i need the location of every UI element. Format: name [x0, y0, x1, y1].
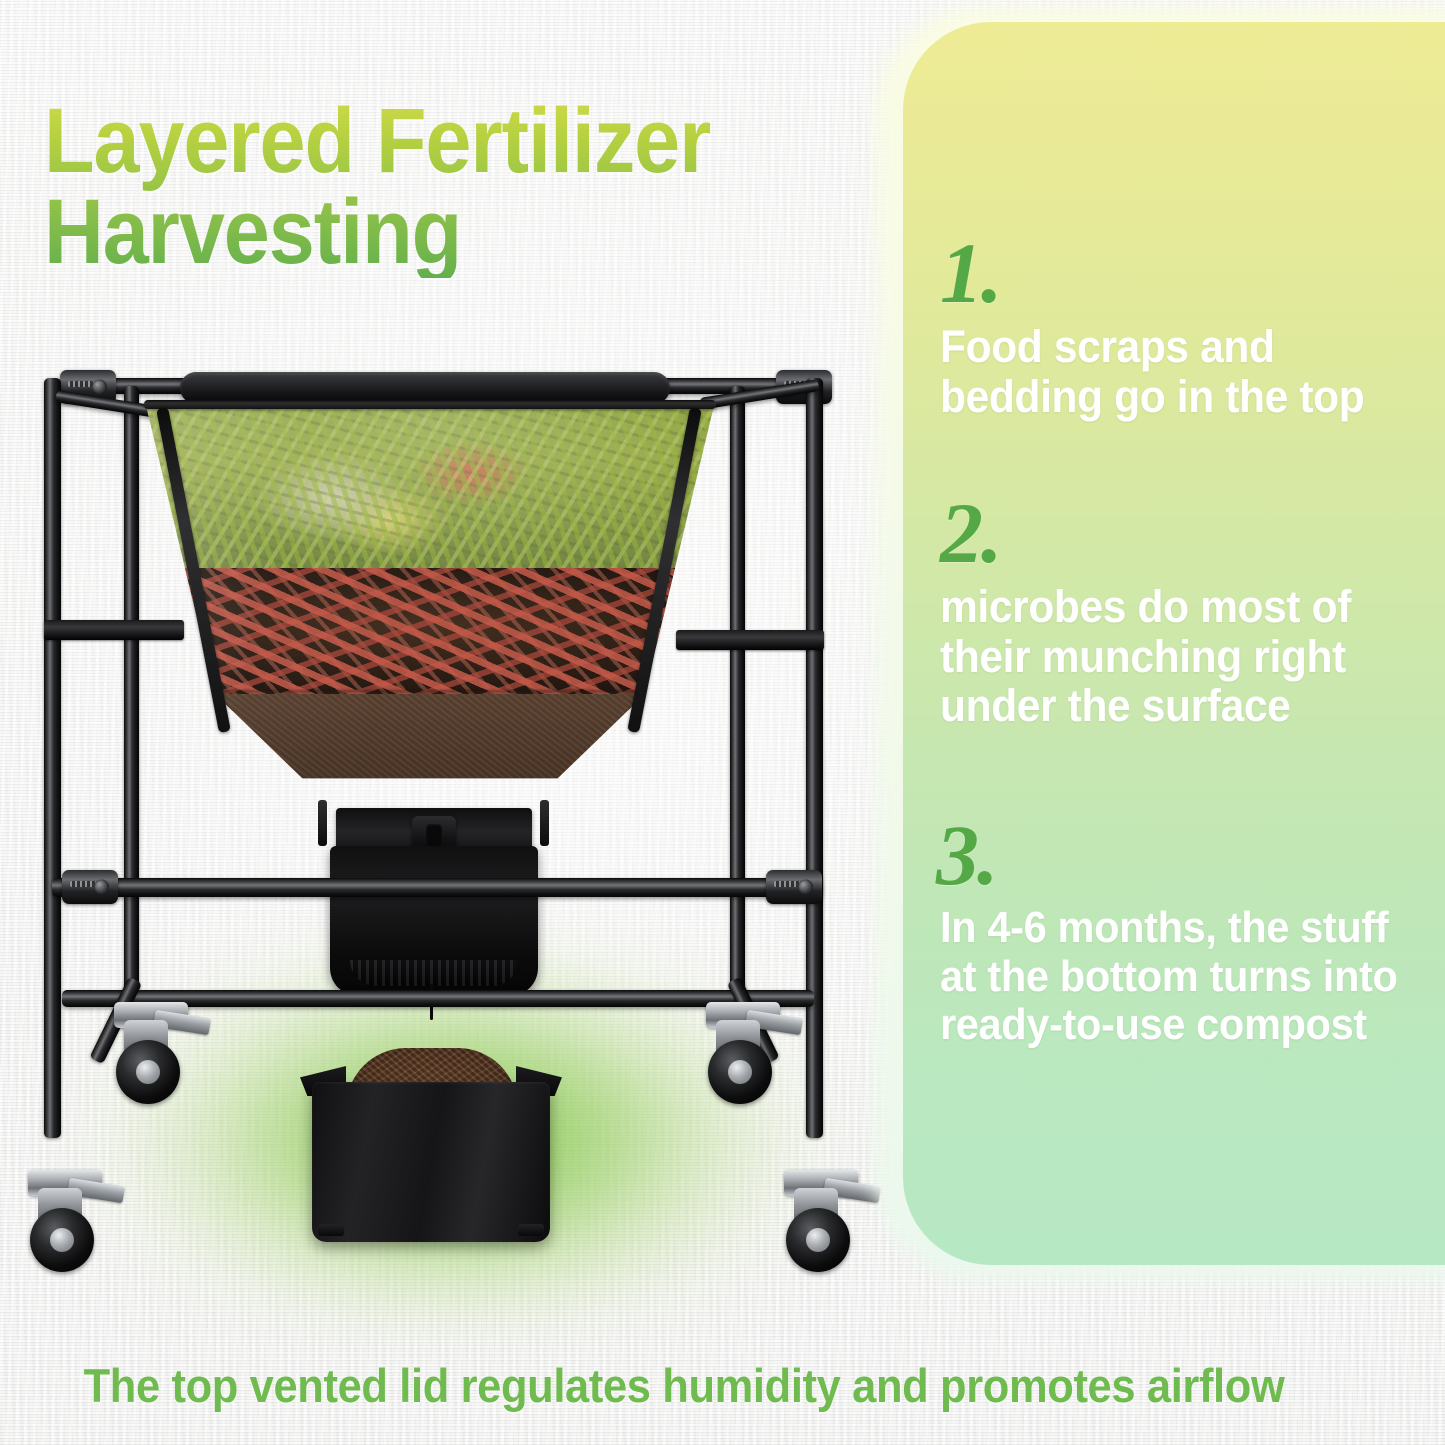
frame-connector-mid-left: [62, 870, 118, 904]
caster-front-right: [778, 1170, 882, 1274]
step-number-2: 2.: [940, 490, 1440, 576]
step-item-2: 2. microbes do most of their munching ri…: [940, 490, 1440, 731]
bin-rim-top: [144, 400, 716, 409]
bin-zipper-right[interactable]: [540, 800, 549, 846]
compost-collection-bag: [300, 1048, 562, 1244]
step-text-1: Food scraps and bedding go in the top: [940, 322, 1413, 421]
step-text-2: microbes do most of their munching right…: [940, 582, 1413, 731]
frame-connector-mid-right: [766, 870, 822, 904]
bin-zipper-left[interactable]: [318, 800, 327, 846]
caster-back-right: [700, 1002, 804, 1106]
funnel-compost-bin: [140, 392, 720, 812]
product-photo: [0, 330, 900, 1340]
bin-interior: [140, 392, 720, 812]
info-panel: 1. Food scraps and bedding go in the top…: [903, 22, 1445, 1265]
frame-post-front-right: [806, 378, 823, 1138]
frame-post-front-left: [44, 378, 61, 1138]
frame-mid-rail: [52, 878, 822, 897]
footer-caption: The top vented lid regulates humidity an…: [51, 1358, 1316, 1413]
caster-wheel: [708, 1040, 772, 1104]
bag-tab-left[interactable]: [318, 1224, 344, 1236]
step-number-3: 3.: [936, 812, 1440, 898]
caster-wheel: [30, 1208, 94, 1272]
step-item-1: 1. Food scraps and bedding go in the top: [940, 230, 1440, 421]
funnel-drawstring-cinch[interactable]: [350, 960, 518, 986]
bag-tab-right[interactable]: [518, 1224, 544, 1236]
caster-wheel: [786, 1208, 850, 1272]
step-number-1: 1.: [940, 230, 1440, 316]
step-item-3: 3. In 4-6 months, the stuff at the botto…: [940, 812, 1440, 1050]
caster-front-left: [22, 1170, 126, 1274]
bag-body: [312, 1082, 550, 1242]
page-title: Layered Fertilizer Harvesting: [44, 96, 800, 278]
step-text-3: In 4-6 months, the stuff at the bottom t…: [940, 904, 1413, 1050]
caster-wheel: [116, 1040, 180, 1104]
bin-layer-food-scraps: [140, 392, 720, 585]
caster-back-left: [108, 1002, 212, 1106]
